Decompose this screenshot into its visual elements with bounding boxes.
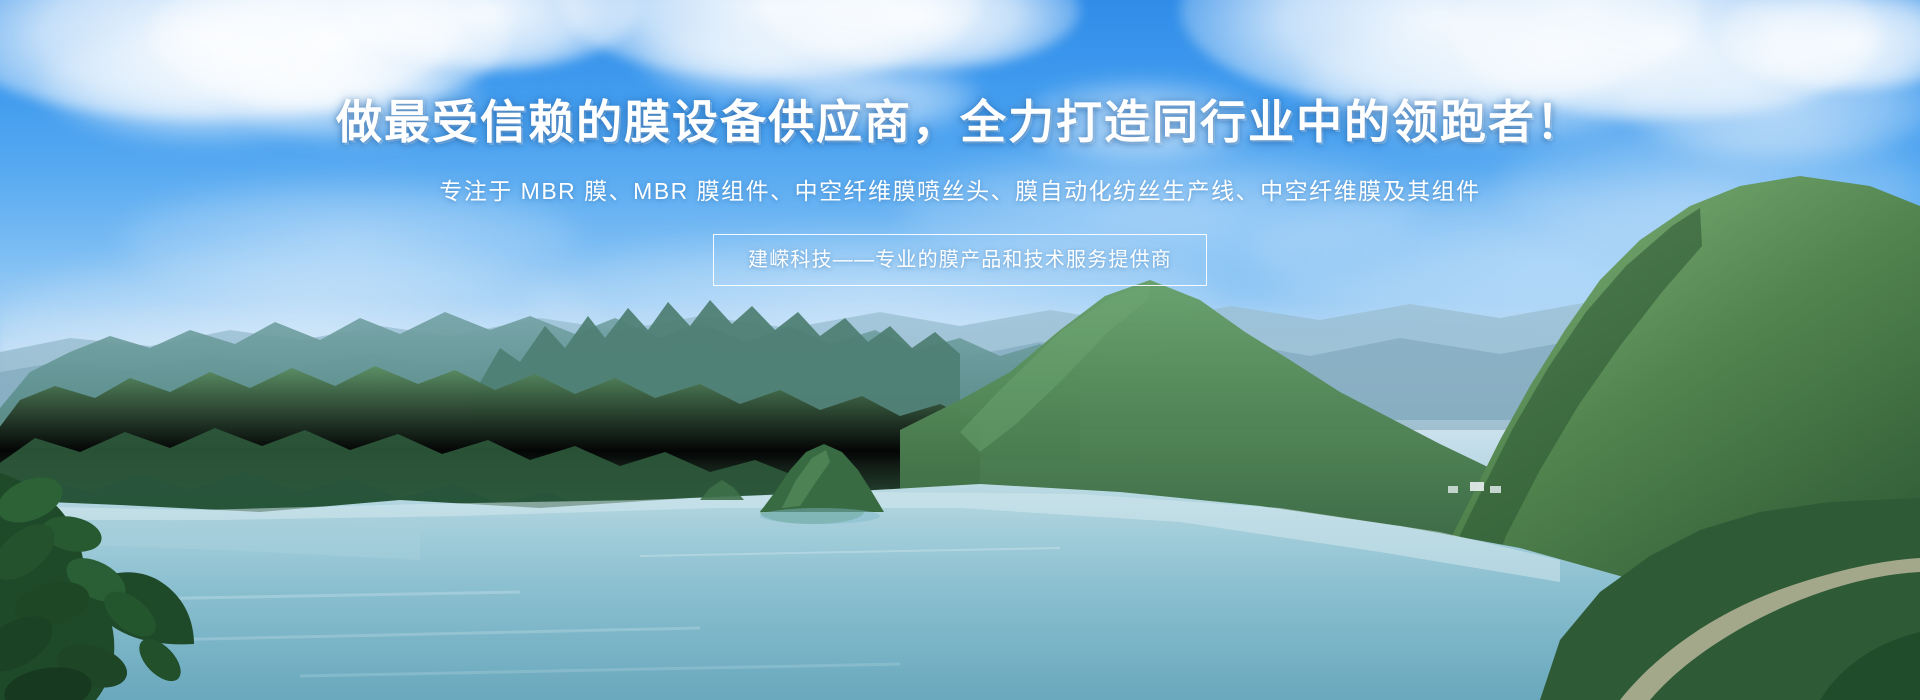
banner-copy: 做最受信赖的膜设备供应商，全力打造同行业中的领跑者！ 专注于 MBR 膜、MBR… xyxy=(0,92,1920,286)
tagline-container: 建嵘科技——专业的膜产品和技术服务提供商 xyxy=(0,234,1920,286)
tagline-box: 建嵘科技——专业的膜产品和技术服务提供商 xyxy=(713,234,1207,286)
shore-building xyxy=(1448,486,1458,493)
page-title: 做最受信赖的膜设备供应商，全力打造同行业中的领跑者！ xyxy=(0,92,1920,152)
shore-building xyxy=(1470,482,1484,491)
island-reflection xyxy=(760,508,880,524)
page-subtitle: 专注于 MBR 膜、MBR 膜组件、中空纤维膜喷丝头、膜自动化纺丝生产线、中空纤… xyxy=(0,174,1920,208)
hero-banner: 做最受信赖的膜设备供应商，全力打造同行业中的领跑者！ 专注于 MBR 膜、MBR… xyxy=(0,0,1920,700)
shore-building xyxy=(1490,486,1501,493)
